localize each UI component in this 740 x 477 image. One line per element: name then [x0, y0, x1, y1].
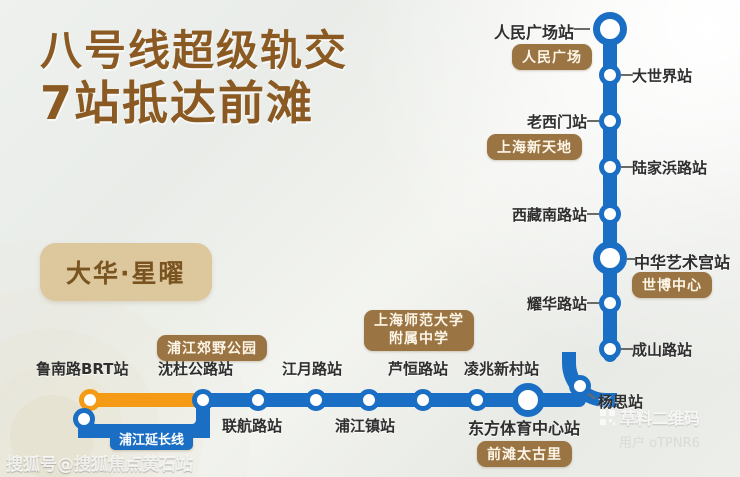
- station-dot-branch-terminus[interactable]: [73, 408, 95, 430]
- tag-pujiang-branch-line: 浦江延长线: [110, 427, 193, 450]
- tick-laoximen: [587, 120, 599, 122]
- station-label-yaohua-lu: 耀华路站: [527, 293, 587, 314]
- station-dot-dashijie[interactable]: [599, 64, 621, 86]
- station-label-jiangyue-lu: 江月路站: [282, 358, 342, 379]
- station-label-chengshan-lu: 成山路站: [632, 339, 692, 360]
- station-label-renmin-guangchang: 人民广场站: [494, 19, 574, 43]
- station-label-lianhang-lu: 联航路站: [222, 415, 282, 436]
- station-label-dashijie: 大世界站: [632, 65, 692, 86]
- station-dot-shendu-gonglu[interactable]: [192, 389, 214, 411]
- station-label-luheng-lu: 芦恒路站: [388, 358, 448, 379]
- tag-xintiandi: 上海新天地: [487, 134, 582, 160]
- headline-line-2: 7站抵达前滩: [40, 79, 348, 129]
- tick-xizang-nan-lu: [587, 213, 599, 215]
- tag-pujiang-jiaoye-gongyuan: 浦江郊野公园: [157, 335, 267, 361]
- station-dot-xizang-nan-lu[interactable]: [599, 203, 621, 225]
- station-label-dongfang-tiyu-zhongxin: 东方体育中心站: [468, 415, 580, 439]
- tag-shanghai-shifan-fuzhong: 上海师范大学 附属中学: [364, 310, 474, 351]
- tag-line-2: 附属中学: [389, 331, 449, 347]
- brand-badge: 大华·星曜: [40, 243, 212, 301]
- station-label-lingzhao-xincun: 凌兆新村站: [464, 358, 539, 379]
- watermark-qr-text: 草料二维码: [620, 405, 700, 429]
- tick-renmin-guangchang: [574, 28, 590, 30]
- watermark-qr-line-1: 草料二维码: [600, 405, 700, 429]
- tag-qiantan-taikoo-li: 前滩太古里: [477, 441, 572, 467]
- station-dot-lingzhao-xincun[interactable]: [466, 389, 488, 411]
- station-dot-yaohua-lu[interactable]: [599, 292, 621, 314]
- station-dot-pujiang-zhen[interactable]: [358, 389, 380, 411]
- tag-line-1: 上海师范大学: [374, 313, 464, 329]
- station-label-xizang-nan-lu: 西藏南路站: [512, 204, 587, 225]
- watermark-sohu: 搜狐号@搜狐焦点黄石站: [6, 450, 193, 475]
- station-dot-laoximen[interactable]: [599, 110, 621, 132]
- station-dot-chengshan-lu[interactable]: [599, 338, 621, 360]
- watermark-qr-user: 用户 oTPNR6: [619, 432, 700, 451]
- station-dot-lianhang-lu[interactable]: [247, 389, 269, 411]
- station-dot-lujiabang-lu[interactable]: [599, 156, 621, 178]
- headline: 八号线超级轨交 7站抵达前滩: [40, 28, 348, 129]
- station-label-shendu-gonglu: 沈杜公路站: [158, 358, 233, 379]
- station-dot-yangsi[interactable]: [569, 375, 591, 397]
- station-label-zhonghua-yishugong: 中华艺术宫站: [634, 249, 730, 273]
- station-dot-zhonghua-yishugong[interactable]: [593, 241, 627, 275]
- metro-line-infographic: 八号线超级轨交 7站抵达前滩 大华·星曜 人民广场站 人民广场 大世界站 老西门…: [0, 0, 740, 477]
- tick-yaohua-lu: [587, 302, 599, 304]
- watermark-qr: 草料二维码 用户 oTPNR6: [600, 405, 700, 451]
- station-dot-dongfang-tiyu-zhongxin[interactable]: [511, 383, 545, 417]
- station-dot-luheng-lu[interactable]: [412, 389, 434, 411]
- qr-code-icon: [600, 410, 615, 425]
- tag-shibo-zhongxin: 世博中心: [632, 272, 712, 298]
- station-label-pujiang-zhen: 浦江镇站: [335, 415, 395, 436]
- brand-name: 大华·星曜: [66, 259, 186, 288]
- station-label-lujiabang-lu: 陆家浜路站: [632, 157, 707, 178]
- station-label-laoximen: 老西门站: [527, 111, 587, 132]
- tag-renmin-guangchang: 人民广场: [512, 44, 592, 70]
- station-dot-renmin-guangchang[interactable]: [593, 12, 627, 46]
- station-dot-jiangyue-lu[interactable]: [305, 389, 327, 411]
- station-label-lunan-lu-brt: 鲁南路BRT站: [36, 358, 129, 379]
- headline-line-1: 八号线超级轨交: [40, 28, 348, 73]
- metro-line-orange-brt: [84, 393, 209, 407]
